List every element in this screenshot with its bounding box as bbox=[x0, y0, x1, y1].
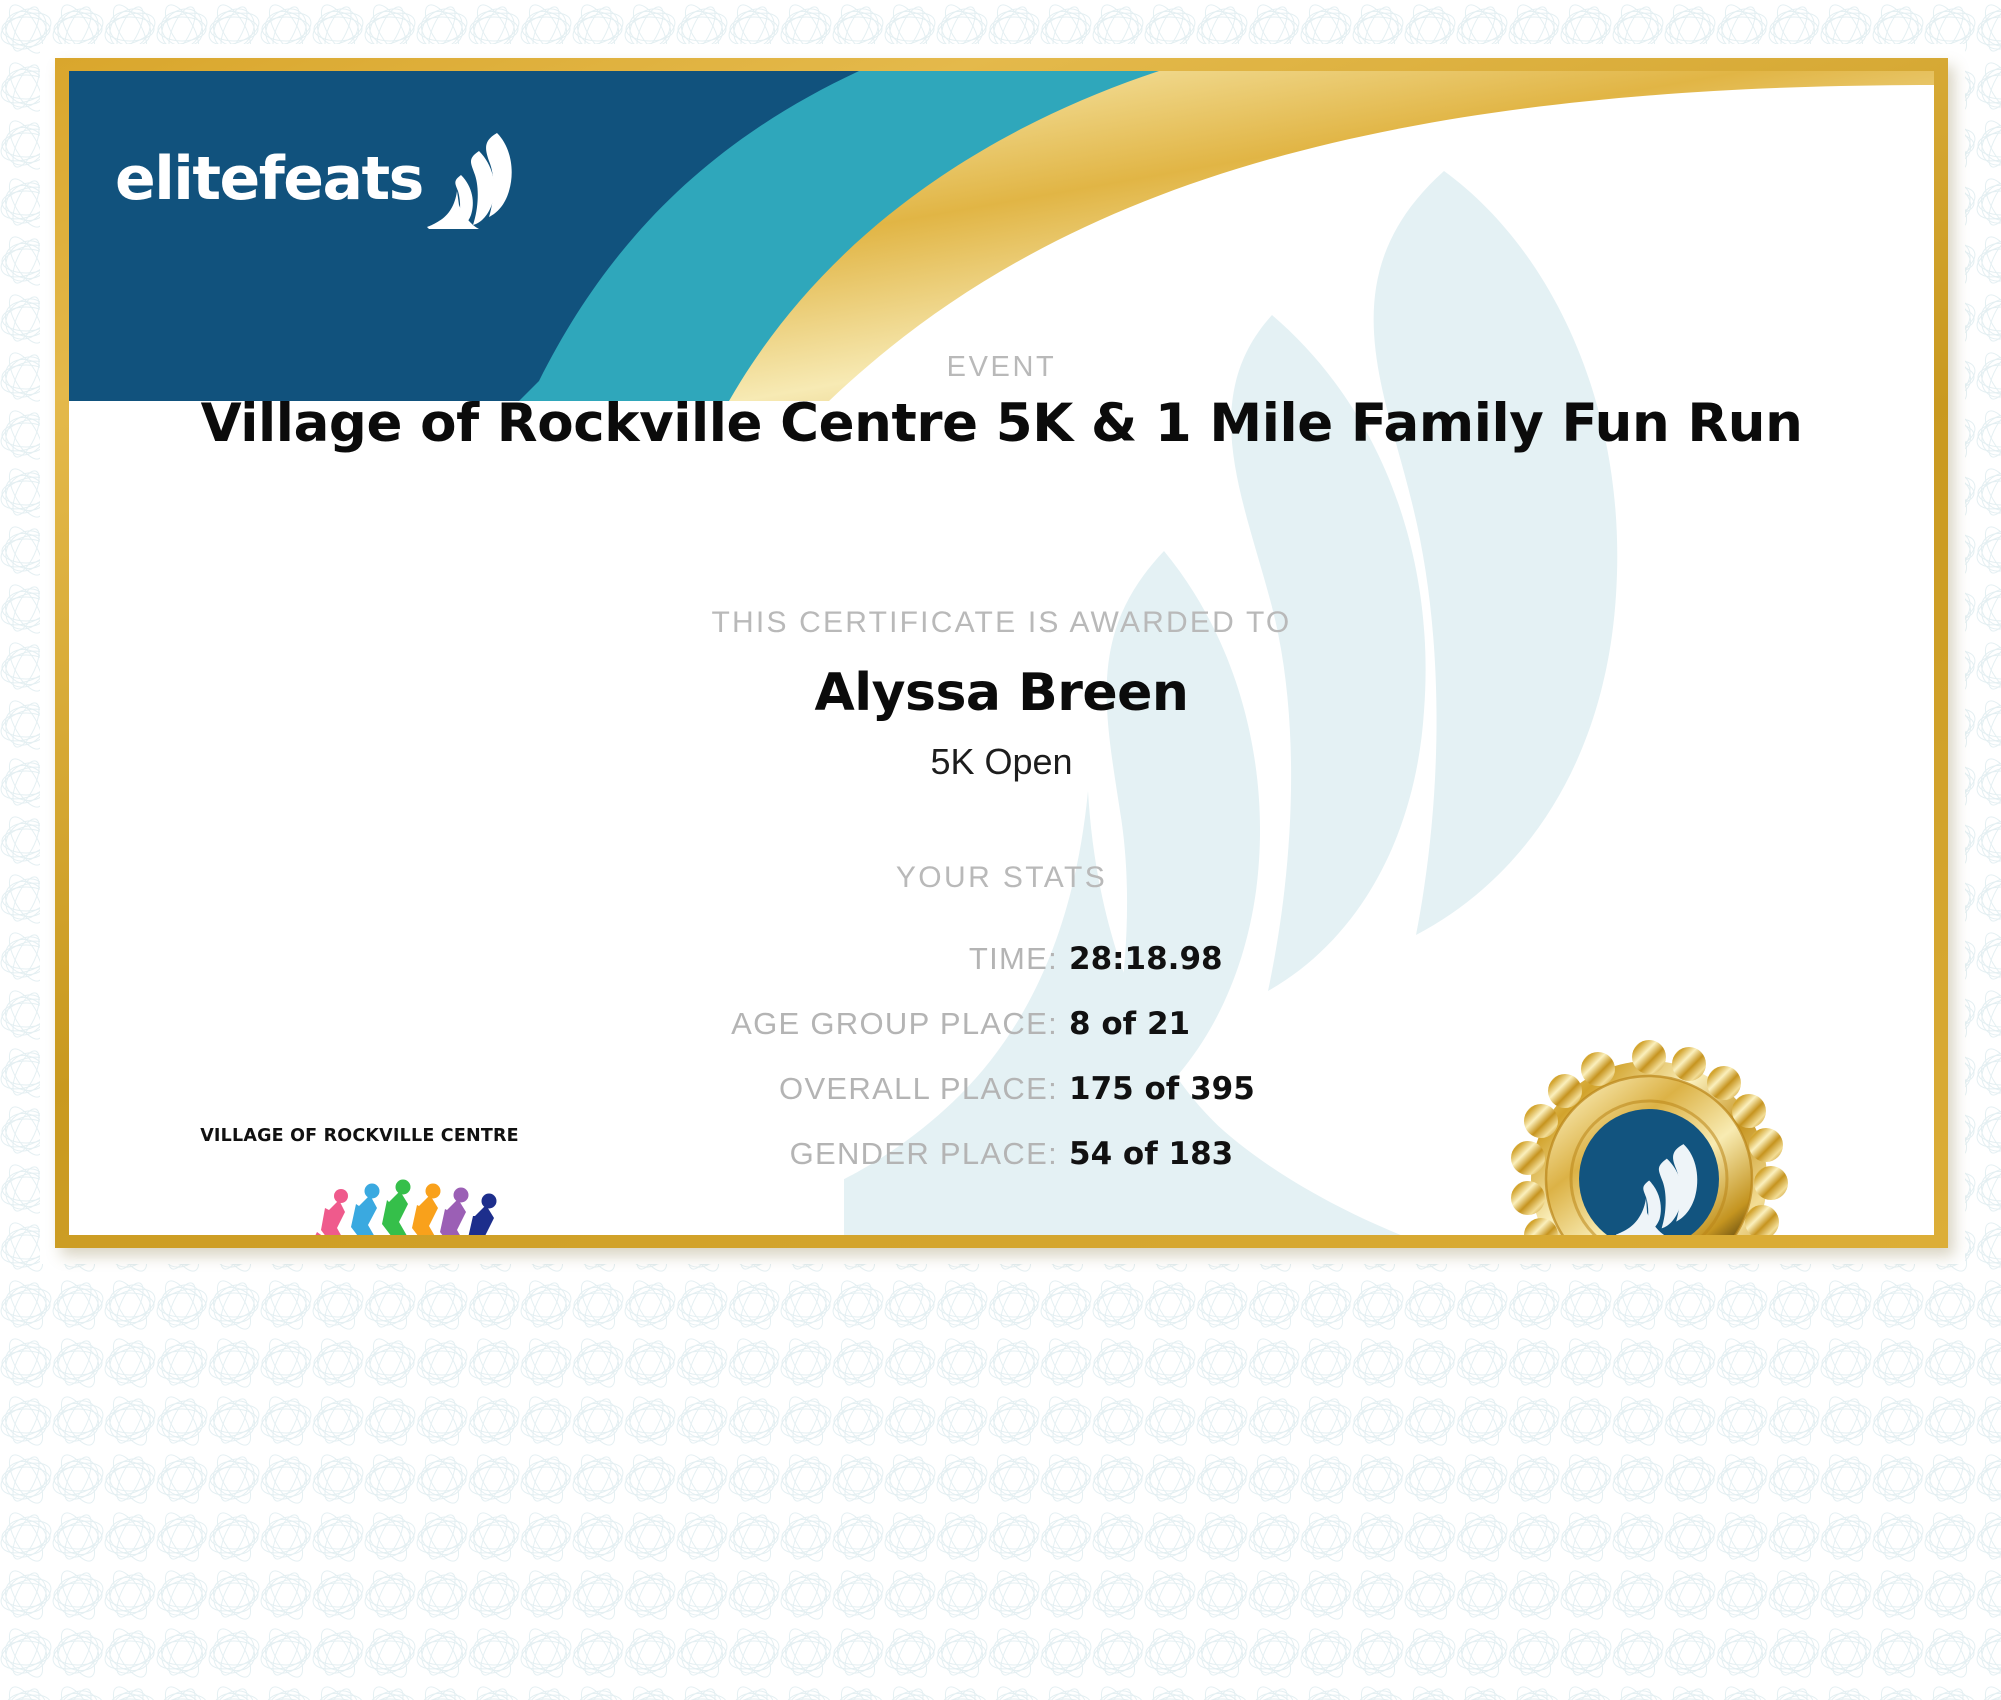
elitefeats-logo: elitefeats bbox=[115, 129, 523, 229]
recipient-division: 5K Open bbox=[69, 741, 1934, 783]
your-stats-label: YOUR STATS bbox=[69, 861, 1934, 895]
stat-row-overall-place: OVERALL PLACE: 175 of 395 bbox=[399, 1071, 1279, 1123]
stat-label: AGE GROUP PLACE: bbox=[731, 1006, 1058, 1042]
stat-row-age-group-place: AGE GROUP PLACE: 8 of 21 bbox=[399, 1006, 1279, 1058]
stat-label: GENDER PLACE: bbox=[790, 1136, 1058, 1172]
stat-label: TIME: bbox=[969, 941, 1058, 977]
stat-row-time: TIME: 28:18.98 bbox=[399, 941, 1279, 993]
event-label: EVENT bbox=[69, 351, 1934, 384]
stat-label: OVERALL PLACE: bbox=[779, 1071, 1058, 1107]
recipient-name: Alyssa Breen bbox=[69, 663, 1934, 723]
certificate-gold-border: elitefeats EVENT Village of Rockville Ce… bbox=[55, 58, 1948, 1248]
stat-value: 28:18.98 bbox=[1069, 941, 1279, 977]
winged-foot-icon bbox=[427, 129, 523, 229]
stat-value: 54 of 183 bbox=[1069, 1136, 1279, 1172]
finisher-medal: 2025 bbox=[1494, 1031, 1804, 1235]
race-logo-art: ROCKVILLE CENTRE PARKS & RECREATION 5K &… bbox=[177, 1148, 542, 1235]
certificate-card: elitefeats EVENT Village of Rockville Ce… bbox=[69, 71, 1934, 1235]
race-logo-title: VILLAGE OF ROCKVILLE CENTRE bbox=[187, 1126, 532, 1146]
race-logo: VILLAGE OF ROCKVILLE CENTRE bbox=[177, 1126, 542, 1235]
stat-value: 175 of 395 bbox=[1069, 1071, 1279, 1107]
certificate-page: elitefeats EVENT Village of Rockville Ce… bbox=[0, 0, 2001, 1700]
event-title: Village of Rockville Centre 5K & 1 Mile … bbox=[69, 393, 1934, 454]
brand-wordmark: elitefeats bbox=[115, 144, 423, 214]
stat-value: 8 of 21 bbox=[1069, 1006, 1279, 1042]
awarded-to-label: THIS CERTIFICATE IS AWARDED TO bbox=[69, 606, 1934, 640]
